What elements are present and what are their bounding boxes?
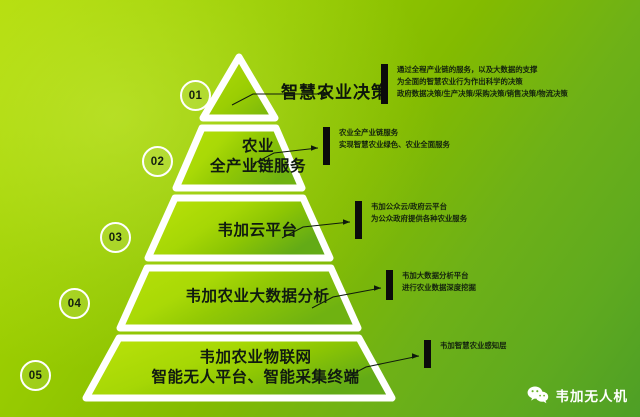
pyramid-graphic — [0, 0, 640, 417]
pyramid-tier-2[interactable] — [176, 128, 302, 188]
wechat-icon — [527, 386, 549, 404]
tier-4-callout: 韦加大数据分析平台 进行农业数据深度挖掘 — [386, 270, 476, 300]
tier-2-badge[interactable]: 02 — [142, 146, 173, 177]
pyramid-tier-3[interactable] — [148, 198, 330, 258]
tier-3-callout: 韦加公众云/政府云平台 为公众政府提供各种农业服务 — [355, 201, 467, 239]
tier-2-callout: 农业全产业链服务 实现智慧农业绿色、农业全面服务 — [323, 127, 450, 165]
pyramid-tier-5[interactable] — [86, 338, 392, 398]
tier-1-callout: 通过全程产业链的服务，以及大数据的支撑 为全面的智慧农业行为作出科学的决策 政府… — [381, 64, 568, 104]
callout-bar — [424, 340, 431, 368]
watermark-label: 韦加无人机 — [556, 385, 629, 405]
callout-bar — [386, 270, 393, 300]
tier-2-callout-text: 农业全产业链服务 实现智慧农业绿色、农业全面服务 — [339, 127, 450, 151]
tier-1-title: 智慧农业决策 — [281, 78, 389, 103]
tier-5-callout-text: 韦加智慧农业感知层 — [440, 340, 507, 352]
watermark: 韦加无人机 — [527, 385, 629, 405]
callout-bar — [355, 201, 362, 239]
tier-5-badge[interactable]: 05 — [20, 360, 51, 391]
tier-1-badge[interactable]: 01 — [180, 80, 211, 111]
tier-1-callout-text: 通过全程产业链的服务，以及大数据的支撑 为全面的智慧农业行为作出科学的决策 政府… — [397, 64, 568, 100]
callout-bar — [381, 64, 388, 104]
pyramid-infographic: 智慧农业决策 农业 全产业链服务 韦加云平台 韦加农业大数据分析 韦加农业物联网… — [0, 0, 640, 417]
tier-4-callout-text: 韦加大数据分析平台 进行农业数据深度挖掘 — [402, 270, 476, 294]
pyramid-tier-4[interactable] — [120, 268, 358, 328]
pyramid-tier-1[interactable] — [203, 57, 275, 118]
tier-5-callout: 韦加智慧农业感知层 — [424, 340, 507, 368]
tier-3-callout-text: 韦加公众云/政府云平台 为公众政府提供各种农业服务 — [371, 201, 467, 225]
callout-bar — [323, 127, 330, 165]
tier-4-badge[interactable]: 04 — [59, 288, 90, 319]
tier-3-badge[interactable]: 03 — [100, 222, 131, 253]
